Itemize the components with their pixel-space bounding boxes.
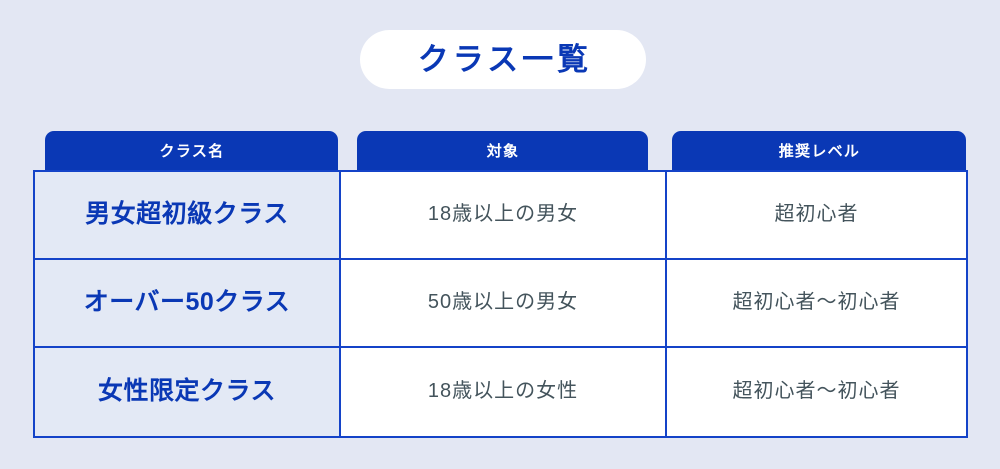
cell-level: 超初心者 xyxy=(667,172,966,258)
cell-target: 50歳以上の男女 xyxy=(341,260,667,346)
cell-class-name: 男女超初級クラス xyxy=(35,172,341,258)
class-table-body: 男女超初級クラス 18歳以上の男女 超初心者 オーバー50クラス 50歳以上の男… xyxy=(33,170,968,438)
column-header-class-name-label: クラス名 xyxy=(159,144,225,159)
class-list-page: クラス一覧 クラス名 対象 推奨レベル 男女超初級クラス 18歳以上の男女 超初… xyxy=(0,0,1000,469)
column-header-level: 推奨レベル xyxy=(672,131,966,171)
column-header-class-name: クラス名 xyxy=(45,131,338,171)
page-title: クラス一覧 xyxy=(414,44,592,75)
column-header-target-label: 対象 xyxy=(486,144,520,159)
table-row: 男女超初級クラス 18歳以上の男女 超初心者 xyxy=(35,172,966,260)
column-header-level-label: 推奨レベル xyxy=(778,144,861,159)
cell-class-name: 女性限定クラス xyxy=(35,348,341,436)
cell-target: 18歳以上の女性 xyxy=(341,348,667,436)
table-row: オーバー50クラス 50歳以上の男女 超初心者〜初心者 xyxy=(35,260,966,348)
cell-level: 超初心者〜初心者 xyxy=(667,260,966,346)
column-header-target: 対象 xyxy=(357,131,648,171)
cell-level: 超初心者〜初心者 xyxy=(667,348,966,436)
table-row: 女性限定クラス 18歳以上の女性 超初心者〜初心者 xyxy=(35,348,966,436)
table-header-row: クラス名 対象 推奨レベル xyxy=(33,131,968,171)
page-title-pill: クラス一覧 xyxy=(360,30,646,89)
cell-target: 18歳以上の男女 xyxy=(341,172,667,258)
cell-class-name: オーバー50クラス xyxy=(35,260,341,346)
